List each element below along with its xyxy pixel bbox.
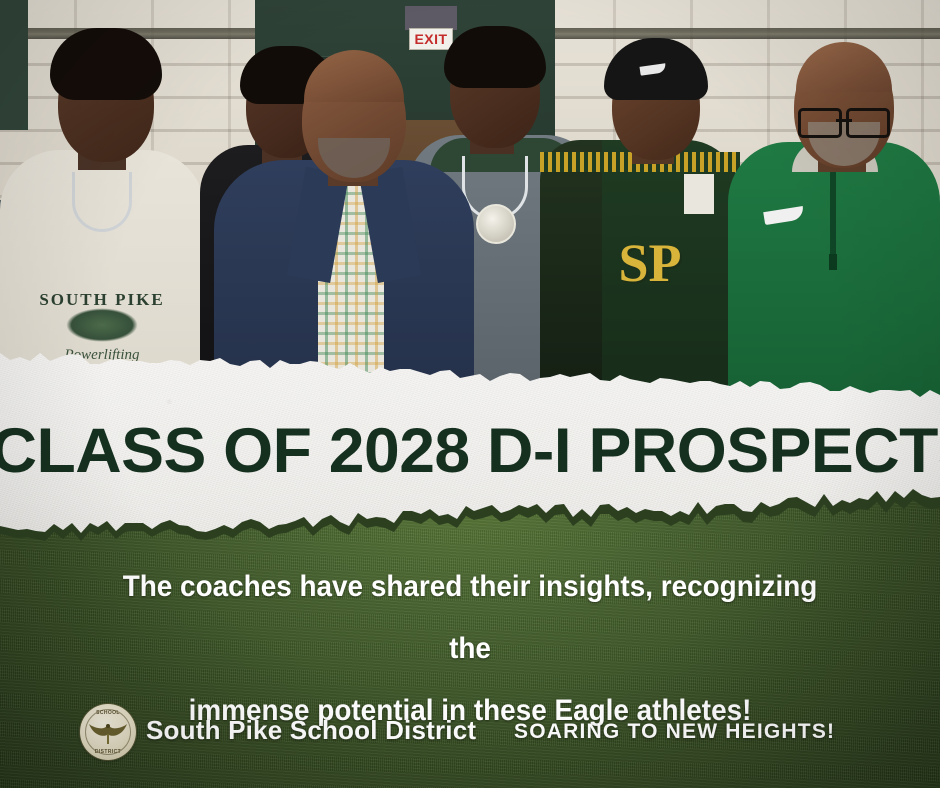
body-text-line-1: The coaches have shared their insights, … (98, 556, 842, 680)
district-seal-logo: SCHOOL DISTRICT (80, 704, 136, 760)
person-4-hair (444, 26, 546, 88)
eyeglasses-bridge (836, 119, 852, 122)
person-1-hair (50, 28, 162, 100)
district-name: South Pike School District (146, 715, 476, 746)
varsity-sp-patch: SP (612, 234, 688, 296)
page-title: CLASS OF 2028 D-I PROSPECTS (0, 417, 940, 485)
exit-sign: EXIT (409, 28, 453, 50)
person-5-undershirt (684, 174, 714, 214)
exit-sign-plate (405, 6, 457, 30)
shirt-text-south-pike: SOUTH PIKE (22, 290, 182, 310)
green-wall-panel-left (0, 0, 28, 130)
announcement-graphic: EXIT SOUTH PIKE Powerlifting SP (0, 0, 940, 788)
eagle-icon (88, 720, 128, 746)
person-1-chain-icon (72, 172, 132, 232)
tagline: SOARING TO NEW HEIGHTS! (514, 720, 835, 744)
seal-text-bottom: DISTRICT (80, 749, 136, 755)
medallion-icon (476, 204, 516, 244)
seal-text-top: SCHOOL (80, 710, 136, 716)
